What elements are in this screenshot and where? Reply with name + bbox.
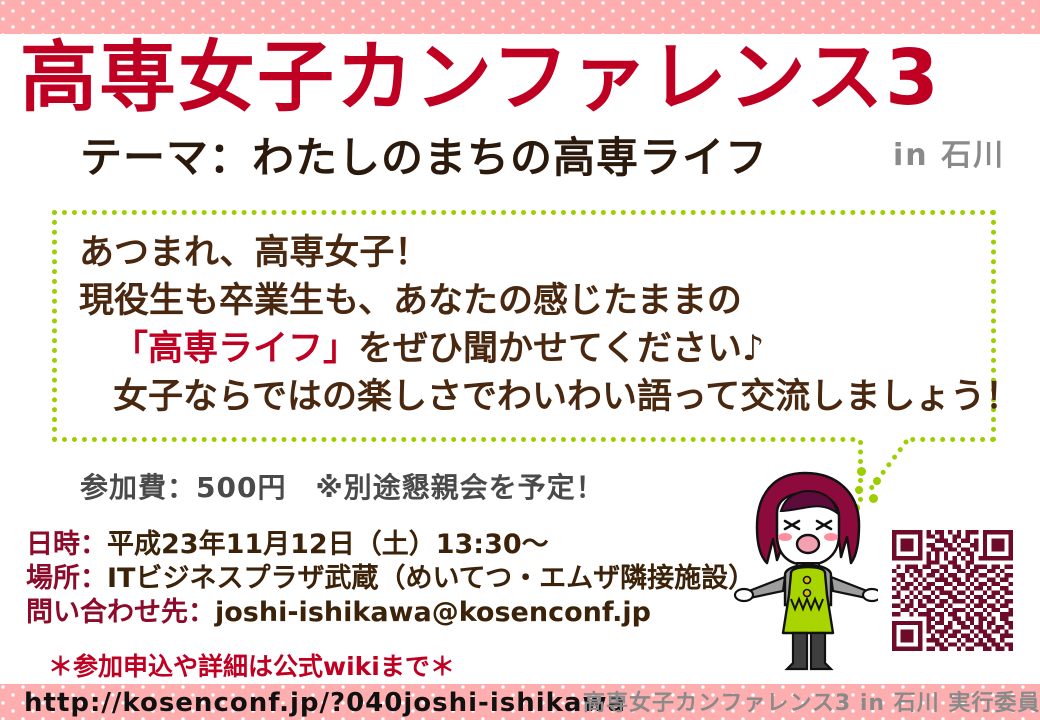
detail-label-venue: 場所： <box>26 563 107 594</box>
detail-row-datetime: 日時：平成23年11月12日（土）13:30〜 <box>26 528 755 562</box>
organizer-credit: 高専女子カンファレンス3 in 石川 実行委員会 <box>583 691 1040 717</box>
bubble-line-3: 「高専ライフ」をぜひ聞かせてください♪ <box>79 325 981 373</box>
top-polka-bar <box>0 0 1040 34</box>
mascot-boot-right <box>811 633 831 669</box>
detail-value-contact-email: joshi-ishikawa@kosenconf.jp <box>215 597 651 628</box>
bubble-line-4: 女子ならではの楽しさでわいわい語って交流しましょう！ <box>79 373 981 421</box>
mascot-cheek-left <box>778 533 792 541</box>
mascot-mouth <box>797 535 819 553</box>
bubble-line-3-rest: をぜひ聞かせてください♪ <box>358 329 764 369</box>
detail-label-contact: 問い合わせ先： <box>26 597 215 628</box>
bubble-line-1: あつまれ、高専女子！ <box>79 229 981 277</box>
detail-label-datetime: 日時： <box>26 529 107 560</box>
theme-subtitle: テーマ：わたしのまちの高専ライフ <box>80 134 768 182</box>
event-details: 日時：平成23年11月12日（土）13:30〜 場所：ITビジネスプラザ武蔵（め… <box>26 528 755 630</box>
page-title: 高専女子カンファレンス3 <box>20 36 980 122</box>
poster-canvas: 高専女子カンファレンス3 テーマ：わたしのまちの高専ライフ in 石川 あつまれ… <box>0 0 1040 720</box>
speech-bubble-tail-mask <box>860 436 906 446</box>
mascot-boot-left <box>787 633 807 669</box>
detail-row-contact: 問い合わせ先：joshi-ishikawa@kosenconf.jp <box>26 596 755 630</box>
wiki-url-link[interactable]: http://kosenconf.jp/?040joshi-ishikawa <box>24 688 626 718</box>
mascot-button-bottom <box>804 590 811 597</box>
mascot-cheek-right <box>824 533 838 541</box>
qr-code[interactable] <box>892 530 1013 651</box>
speech-bubble-text: あつまれ、高専女子！ 現役生も卒業生も、あなたの感じたままの 「高専ライフ」をぜ… <box>79 229 981 421</box>
detail-row-venue: 場所：ITビジネスプラザ武蔵（めいてつ・エムザ隣接施設） <box>26 562 755 596</box>
bubble-highlight-quote: 「高専ライフ」 <box>113 329 358 369</box>
detail-value-datetime: 平成23年11月12日（土）13:30〜 <box>107 529 549 560</box>
mascot-hand-right <box>863 589 878 601</box>
fee-line: 参加費：500円 ※別途懇親会を予定！ <box>80 470 605 506</box>
mascot-button-top <box>804 577 811 584</box>
speech-bubble: あつまれ、高専女子！ 現役生も卒業生も、あなたの感じたままの 「高専ライフ」をぜ… <box>52 210 996 442</box>
location-tag: in 石川 <box>893 138 1005 174</box>
mascot-hand-left <box>735 589 753 601</box>
wiki-note: ＊参加申込や詳細は公式wikiまで＊ <box>48 652 455 682</box>
mascot-illustration <box>733 465 878 680</box>
detail-value-venue: ITビジネスプラザ武蔵（めいてつ・エムザ隣接施設） <box>107 563 755 594</box>
bubble-line-2: 現役生も卒業生も、あなたの感じたままの <box>79 277 981 325</box>
